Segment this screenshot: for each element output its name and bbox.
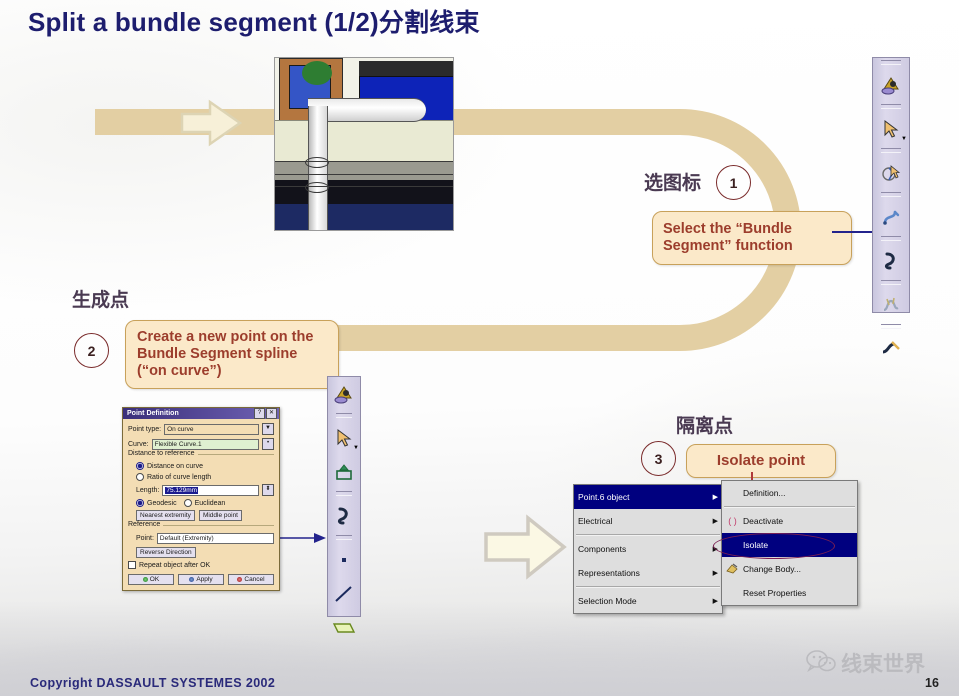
apply-label: Apply [196,576,212,583]
pointer-arrow-center [482,508,568,586]
point-label: Point: [136,535,154,542]
length-value: 75.129mm [165,487,198,494]
menu-item-label: Deactivate [743,516,853,526]
menu-item-label: Components [578,544,709,554]
quantity-stepper[interactable]: ⬍ [262,484,274,496]
geometrical-bundle-icon[interactable] [873,156,909,190]
menu-item-label: Definition... [743,488,853,498]
wireframe-toolbar[interactable]: ▼ [327,376,361,617]
menu-item-electrical[interactable]: Electrical▶ [574,509,722,533]
point-type-select[interactable]: On curve [164,424,259,435]
chevron-down-icon[interactable]: ▼ [262,423,274,435]
context-menu-left[interactable]: Point.6 object▶ Electrical▶ Components▶ … [573,484,723,614]
bundle-segment-branch-icon[interactable] [873,200,909,234]
connector-arrow-2 [280,530,330,546]
middle-point-button[interactable]: Middle point [199,510,242,521]
harness-assembly-icon[interactable] [873,68,909,102]
extract-icon[interactable] [328,455,360,489]
bundle-segment-icon[interactable] [873,244,909,278]
cad-viewport-image [274,57,454,231]
radio-ratio-label: Ratio of curve length [147,474,211,481]
step-2-number: 2 [74,333,109,368]
watermark: 线束世界 [806,648,925,678]
cancel-button[interactable]: Cancel [228,574,274,585]
chevron-right-icon: ▶ [713,493,718,501]
dialog-titlebar[interactable]: Point Definition ? ✕ [123,408,279,419]
step-2-cn-label: 生成点 [72,285,129,312]
nearest-extremity-button[interactable]: Nearest extremity [136,510,195,521]
ok-label: OK [150,576,159,583]
length-label: Length: [136,487,159,494]
close-icon[interactable]: ✕ [266,408,277,419]
menu-item-components[interactable]: Components▶ [574,537,722,561]
repeat-object-label: Repeat object after OK [139,562,210,569]
page-title-cn: 分割线束 [379,9,480,37]
menu-separator [576,586,720,588]
curve-picker-button[interactable]: • [262,438,274,450]
copyright-text: Copyright DASSAULT SYSTEMES 2002 [30,676,275,690]
curve-label: Curve: [128,441,149,448]
line-icon[interactable] [328,577,360,611]
menu-item-label: Selection Mode [578,596,709,606]
step-1-cn-label: 选图标 [644,168,701,195]
bundle-segment-icon[interactable] [328,499,360,533]
multi-branchable-icon[interactable] [873,288,909,322]
menu-item-label: Reset Properties [743,588,853,598]
step-1-callout: Select the “Bundle Segment” function [652,211,852,265]
radio-distance-on-curve[interactable] [136,462,144,470]
deactivate-icon: ( ) [726,516,739,526]
distance-section-label: Distance to reference [128,450,198,457]
chevron-right-icon: ▶ [713,517,718,525]
menu-item-label: Point.6 object [578,492,709,502]
dialog-title: Point Definition [125,410,179,417]
menu-item-change-body[interactable]: Change Body... [722,557,857,581]
harness-assembly-icon[interactable] [328,377,360,411]
point-field[interactable]: Default (Extremity) [157,533,274,544]
context-menu-right[interactable]: Definition... ( ) Deactivate Isolate Cha… [721,480,858,606]
apply-button[interactable]: Apply [178,574,224,585]
point-icon[interactable] [328,543,360,577]
electrical-harness-toolbar[interactable]: ▼ [872,57,910,313]
change-body-icon [726,563,739,576]
menu-item-deactivate[interactable]: ( ) Deactivate [722,509,857,533]
chevron-right-icon: ▶ [713,545,718,553]
bundle-segment-split-icon[interactable] [873,332,909,366]
step-1-number: 1 [716,165,751,200]
slide-canvas: Split a bundle segment (1/2)分割线束 [0,0,959,696]
ok-button[interactable]: OK [128,574,174,585]
reference-section-label: Reference [128,521,163,528]
select-arrow-icon[interactable]: ▼ [328,421,360,455]
pointer-arrow-left [178,94,246,156]
menu-separator [724,506,855,508]
curve-field[interactable]: Flexible Curve.1 [152,439,259,450]
radio-distance-on-curve-label: Distance on curve [147,463,203,470]
menu-item-label: Representations [578,568,709,578]
menu-item-definition[interactable]: Definition... [722,481,857,505]
radio-geodesic-label: Geodesic [147,500,177,507]
menu-item-isolate[interactable]: Isolate [722,533,857,557]
step-3-callout: Isolate point [686,444,836,478]
menu-item-reset-properties[interactable]: Reset Properties [722,581,857,605]
viewport-bundle-vertical [308,106,328,230]
length-input[interactable]: 75.129mm [162,485,259,496]
step-3-cn-label: 隔离点 [676,411,733,438]
menu-item-representations[interactable]: Representations▶ [574,561,722,585]
menu-item-label: Electrical [578,516,709,526]
page-title: Split a bundle segment (1/2)分割线束 [28,3,480,39]
chevron-right-icon: ▶ [713,597,718,605]
reverse-direction-button[interactable]: Reverse Direction [136,547,196,558]
help-button[interactable]: ? [254,408,265,419]
menu-item-label: Change Body... [743,564,853,574]
page-number: 16 [925,676,939,690]
radio-euclidean[interactable] [184,499,192,507]
point-definition-dialog[interactable]: Point Definition ? ✕ Point type: On curv… [122,407,280,591]
radio-ratio-of-curve-length[interactable] [136,473,144,481]
step-3-number: 3 [641,441,676,476]
chevron-right-icon: ▶ [713,569,718,577]
plane-icon[interactable] [328,611,360,645]
select-arrow-icon[interactable]: ▼ [873,112,909,146]
menu-item-label: Isolate [743,540,853,550]
menu-separator [576,534,720,536]
wechat-icon [806,650,836,677]
cancel-label: Cancel [244,576,264,583]
repeat-object-checkbox[interactable] [128,561,136,569]
watermark-text: 线束世界 [841,648,925,678]
radio-euclidean-label: Euclidean [195,500,226,507]
point-type-label: Point type: [128,426,161,433]
menu-item-selection-mode[interactable]: Selection Mode▶ [574,589,722,613]
step-2-callout: Create a new point on the Bundle Segment… [125,320,339,389]
menu-item-point-object[interactable]: Point.6 object▶ [574,485,722,509]
radio-geodesic[interactable] [136,499,144,507]
page-title-en: Split a bundle segment (1/2) [28,7,379,37]
